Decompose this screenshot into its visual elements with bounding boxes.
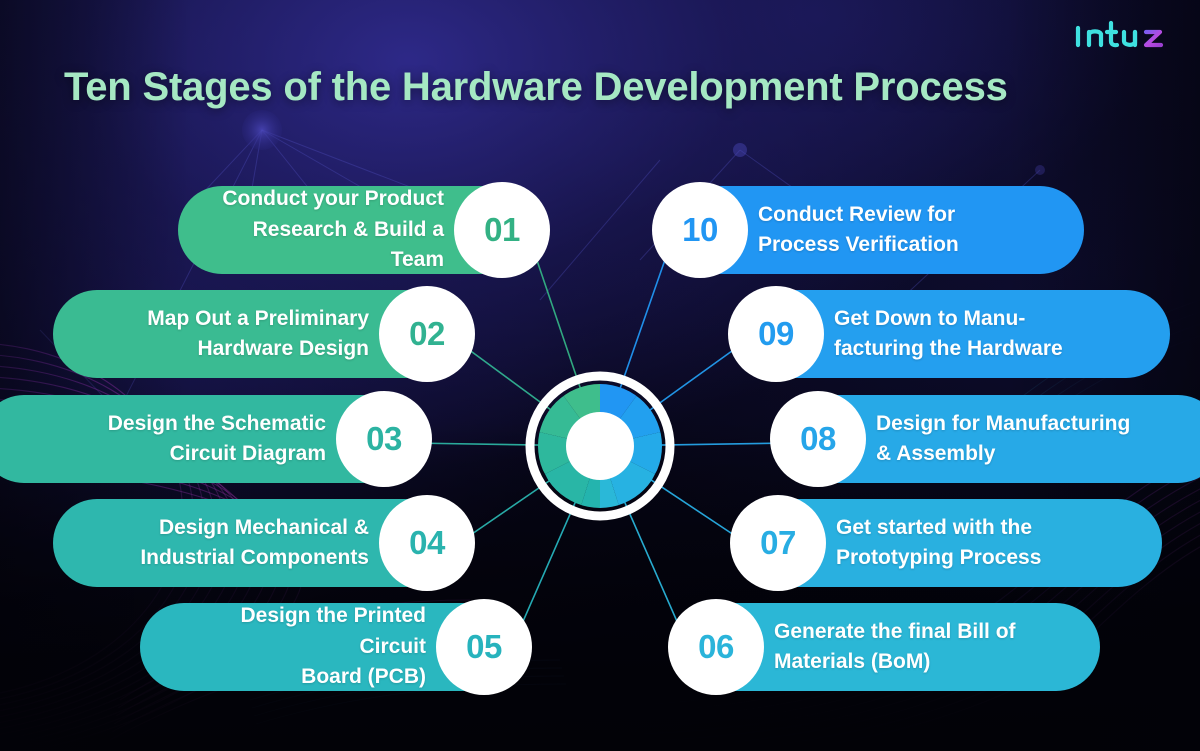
stage-number-08[interactable]: 08 (770, 391, 866, 487)
stage-pill-08[interactable]: Design for Manufacturing & Assembly 08 (792, 395, 1200, 483)
intuz-wordmark-logo-icon (1074, 19, 1178, 51)
stage-number-05[interactable]: 05 (436, 599, 532, 695)
stage-pill-10[interactable]: Conduct Review for Process Verification … (674, 186, 1084, 274)
stage-label-07: Get started with the Prototyping Process (836, 513, 1041, 574)
central-hub-donut (524, 370, 676, 522)
stage-pill-04[interactable]: Design Mechanical & Industrial Component… (53, 499, 453, 587)
stage-number-09[interactable]: 09 (728, 286, 824, 382)
infographic-canvas: Ten Stages of the Hardware Development P… (0, 0, 1200, 751)
stage-pill-03[interactable]: Design the Schematic Circuit Diagram 03 (0, 395, 410, 483)
stage-pill-01[interactable]: Conduct your Product Research & Build a … (178, 186, 528, 274)
stage-row-10[interactable]: Conduct Review for Process Verification … (674, 186, 1200, 274)
stage-number-07[interactable]: 07 (730, 495, 826, 591)
stage-label-05: Design the Printed Circuit Board (PCB) (174, 601, 426, 692)
stage-row-01[interactable]: Conduct your Product Research & Build a … (0, 186, 528, 274)
stage-number-10[interactable]: 10 (652, 182, 748, 278)
stage-row-07[interactable]: Get started with the Prototyping Process… (752, 499, 1200, 587)
stage-pill-02[interactable]: Map Out a Preliminary Hardware Design 02 (53, 290, 453, 378)
stage-pill-07[interactable]: Get started with the Prototyping Process… (752, 499, 1162, 587)
stage-number-01[interactable]: 01 (454, 182, 550, 278)
stage-pill-06[interactable]: Generate the final Bill of Materials (Bo… (690, 603, 1100, 691)
stage-label-04: Design Mechanical & Industrial Component… (140, 513, 369, 574)
stage-pill-09[interactable]: Get Down to Manu- facturing the Hardware… (750, 290, 1170, 378)
stage-label-09: Get Down to Manu- facturing the Hardware (834, 304, 1063, 365)
stage-label-02: Map Out a Preliminary Hardware Design (147, 304, 369, 365)
stage-row-04[interactable]: Design Mechanical & Industrial Component… (0, 499, 453, 587)
stage-row-09[interactable]: Get Down to Manu- facturing the Hardware… (750, 290, 1200, 378)
stage-row-05[interactable]: Design the Printed Circuit Board (PCB) 0… (0, 603, 510, 691)
stage-row-03[interactable]: Design the Schematic Circuit Diagram 03 (0, 395, 410, 483)
segmented-donut-chart-icon (524, 370, 676, 522)
stage-label-10: Conduct Review for Process Verification (758, 200, 959, 261)
intuz-logo[interactable] (1074, 18, 1178, 52)
stage-pill-05[interactable]: Design the Printed Circuit Board (PCB) 0… (140, 603, 510, 691)
stage-number-04[interactable]: 04 (379, 495, 475, 591)
page-title: Ten Stages of the Hardware Development P… (64, 64, 1154, 110)
stage-number-03[interactable]: 03 (336, 391, 432, 487)
stage-row-08[interactable]: Design for Manufacturing & Assembly 08 (792, 395, 1200, 483)
stage-number-02[interactable]: 02 (379, 286, 475, 382)
stage-number-06[interactable]: 06 (668, 599, 764, 695)
stage-row-02[interactable]: Map Out a Preliminary Hardware Design 02 (0, 290, 453, 378)
stage-label-08: Design for Manufacturing & Assembly (876, 409, 1130, 470)
stage-label-01: Conduct your Product Research & Build a … (212, 184, 444, 275)
stage-label-03: Design the Schematic Circuit Diagram (108, 409, 326, 470)
stage-row-06[interactable]: Generate the final Bill of Materials (Bo… (690, 603, 1140, 691)
stage-label-06: Generate the final Bill of Materials (Bo… (774, 617, 1016, 678)
donut-center (566, 412, 634, 480)
